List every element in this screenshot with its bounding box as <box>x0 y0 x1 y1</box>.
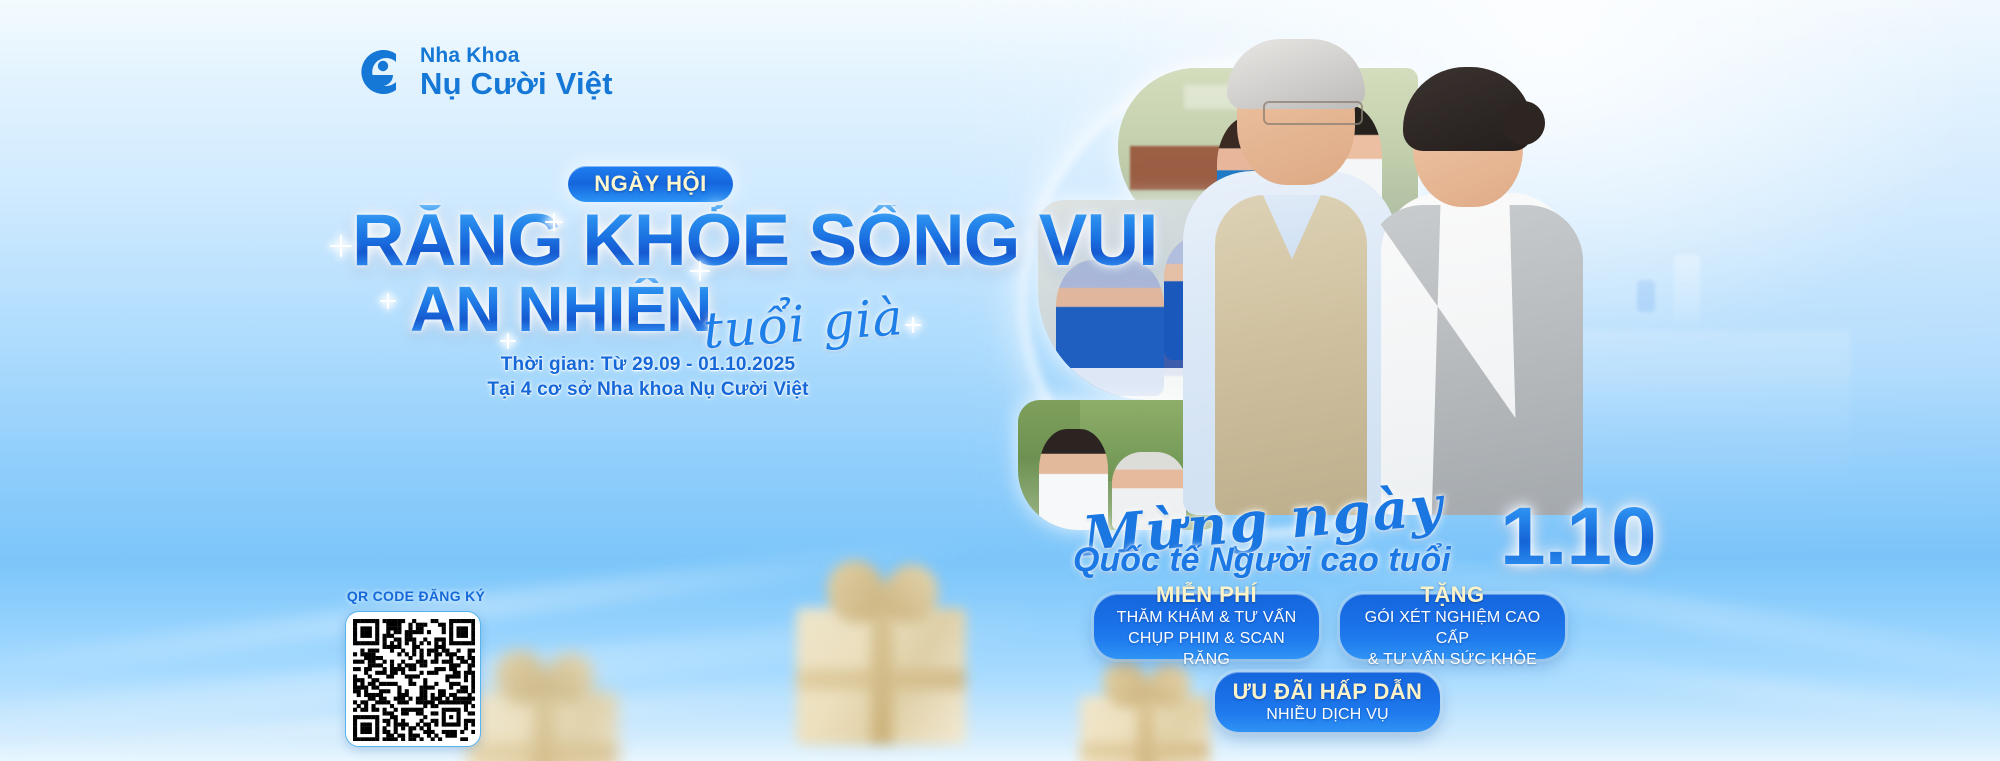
offer-card-discount[interactable]: ƯU ĐÃI HẤP DẪN NHIỀU DỊCH VỤ <box>1215 672 1440 732</box>
promotional-banner: Nha Khoa Nụ Cười Việt NGÀY HỘI RĂNG KHỎE… <box>0 0 2000 761</box>
event-badge: NGÀY HỘI <box>568 166 733 202</box>
brand-line-1: Nha Khoa <box>420 45 613 66</box>
event-location-line: Tại 4 cơ sở Nha khoa Nụ Cười Việt <box>348 377 948 402</box>
offer-card-free[interactable]: MIỄN PHÍ THĂM KHÁM & TƯ VẤN CHỤP PHIM & … <box>1094 594 1319 659</box>
brand-line-2: Nụ Cười Việt <box>420 68 613 99</box>
offer-sub-1: THĂM KHÁM & TƯ VẤN <box>1117 608 1297 629</box>
offer-title: ƯU ĐÃI HẤP DẪN <box>1233 679 1423 705</box>
sparkle-icon <box>330 235 352 257</box>
offer-sub-2: CHỤP PHIM & SCAN RĂNG <box>1110 629 1303 671</box>
sparkle-icon <box>905 317 921 333</box>
brand-logo[interactable]: Nha Khoa Nụ Cười Việt <box>352 44 613 100</box>
celebration-script-line-2: Quốc tế Người cao tuổi <box>1073 541 1451 580</box>
gift-box-icon <box>796 560 966 745</box>
offer-sub-1: NHIỀU DỊCH VỤ <box>1266 705 1389 726</box>
event-time-block: Thời gian: Từ 29.09 - 01.10.2025 Tại 4 c… <box>348 352 948 402</box>
celebration-date-number: 1.10 <box>1500 490 1656 584</box>
headline-script-text: tuổi già <box>701 288 905 360</box>
qr-label: QR CODE ĐĂNG KÝ <box>345 588 487 604</box>
headline-line-1: RĂNG KHỎE SỐNG VUI <box>352 205 1157 277</box>
sparkle-icon <box>380 293 396 309</box>
smile-circle-icon <box>352 44 408 100</box>
qr-registration-block[interactable]: QR CODE ĐĂNG KÝ <box>345 588 487 747</box>
elderly-couple-photo <box>1155 45 1585 515</box>
gift-box-icon <box>1080 660 1210 761</box>
event-time-line-1: Thời gian: Từ 29.09 - 01.10.2025 <box>348 352 948 377</box>
qr-code-icon[interactable] <box>345 611 481 747</box>
offer-title: MIỄN PHÍ <box>1156 582 1257 608</box>
offer-sub-1: GÓI XÉT NGHIỆM CAO CẤP <box>1356 608 1549 650</box>
offer-sub-2: & TƯ VẤN SỨC KHỎE <box>1368 650 1537 671</box>
gift-box-icon <box>468 650 618 761</box>
headline-line-2: AN NHIÊN <box>410 278 711 341</box>
offer-title: TẶNG <box>1421 582 1485 608</box>
offer-card-gift[interactable]: TẶNG GÓI XÉT NGHIỆM CAO CẤP & TƯ VẤN SỨC… <box>1340 594 1565 659</box>
elderly-woman-figure <box>1365 75 1585 515</box>
